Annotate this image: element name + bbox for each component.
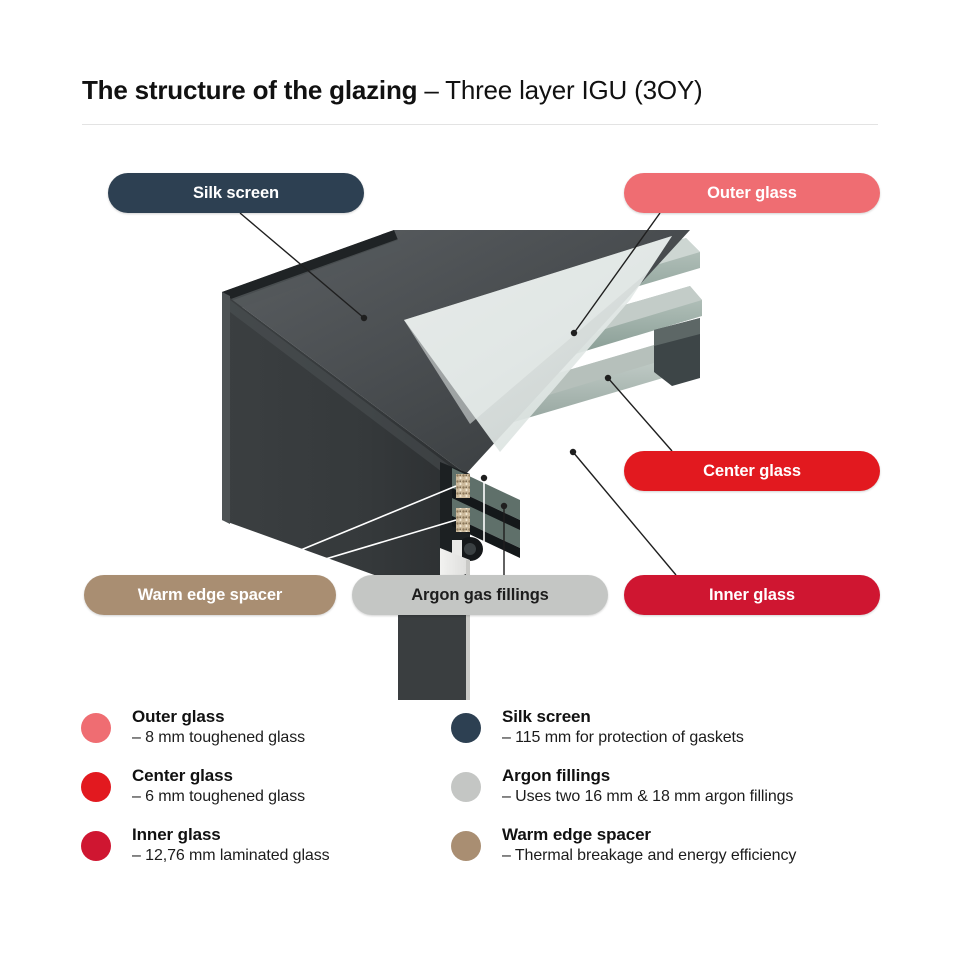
warm-edge-spacer-lower — [456, 508, 470, 532]
callout-outer-glass[interactable]: Outer glass — [624, 173, 880, 213]
callout-warm-edge-spacer[interactable]: Warm edge spacer — [84, 575, 336, 615]
legend-name-argon-fillings: Argon fillings — [502, 765, 892, 786]
legend-name-outer-glass: Outer glass — [132, 706, 476, 727]
legend-dot-center-glass — [81, 772, 111, 802]
legend-desc-outer-glass: – 8 mm toughened glass — [132, 727, 476, 748]
legend: Outer glass – 8 mm toughened glass Cente… — [76, 706, 892, 886]
callout-inner-glass-label: Inner glass — [709, 586, 795, 605]
edge-detail-assembly — [440, 462, 520, 561]
legend-item-argon-fillings: Argon fillings – Uses two 16 mm & 18 mm … — [446, 765, 892, 824]
callout-center-glass[interactable]: Center glass — [624, 451, 880, 491]
callout-argon-gas-fillings[interactable]: Argon gas fillings — [352, 575, 608, 615]
callout-warm-edge-spacer-label: Warm edge spacer — [138, 586, 283, 605]
legend-name-center-glass: Center glass — [132, 765, 476, 786]
callout-outer-glass-label: Outer glass — [707, 184, 797, 203]
legend-dot-warm-edge-spacer — [451, 831, 481, 861]
legend-name-inner-glass: Inner glass — [132, 824, 476, 845]
callout-silk-screen[interactable]: Silk screen — [108, 173, 364, 213]
page-root: The structure of the glazing – Three lay… — [0, 0, 960, 960]
callout-center-glass-label: Center glass — [703, 462, 801, 481]
legend-desc-warm-edge-spacer: – Thermal breakage and energy efficiency — [502, 845, 892, 866]
callout-argon-gas-fillings-label: Argon gas fillings — [411, 586, 549, 605]
legend-item-silk-screen: Silk screen – 115 mm for protection of g… — [446, 706, 892, 765]
warm-edge-spacer-upper — [456, 474, 470, 498]
legend-column-right: Silk screen – 115 mm for protection of g… — [446, 706, 892, 883]
legend-dot-argon-fillings — [451, 772, 481, 802]
legend-dot-silk-screen — [451, 713, 481, 743]
legend-dot-outer-glass — [81, 713, 111, 743]
legend-item-outer-glass: Outer glass – 8 mm toughened glass — [76, 706, 476, 765]
callout-silk-screen-label: Silk screen — [193, 184, 279, 203]
callout-inner-glass[interactable]: Inner glass — [624, 575, 880, 615]
legend-name-silk-screen: Silk screen — [502, 706, 892, 727]
legend-desc-center-glass: – 6 mm toughened glass — [132, 786, 476, 807]
legend-column-left: Outer glass – 8 mm toughened glass Cente… — [76, 706, 476, 883]
legend-item-center-glass: Center glass – 6 mm toughened glass — [76, 765, 476, 824]
legend-desc-argon-fillings: – Uses two 16 mm & 18 mm argon fillings — [502, 786, 892, 807]
leader-center-glass — [605, 375, 672, 451]
legend-name-warm-edge-spacer: Warm edge spacer — [502, 824, 892, 845]
legend-item-warm-edge-spacer: Warm edge spacer – Thermal breakage and … — [446, 824, 892, 883]
legend-desc-inner-glass: – 12,76 mm laminated glass — [132, 845, 476, 866]
legend-item-inner-glass: Inner glass – 12,76 mm laminated glass — [76, 824, 476, 883]
legend-desc-silk-screen: – 115 mm for protection of gaskets — [502, 727, 892, 748]
legend-dot-inner-glass — [81, 831, 111, 861]
